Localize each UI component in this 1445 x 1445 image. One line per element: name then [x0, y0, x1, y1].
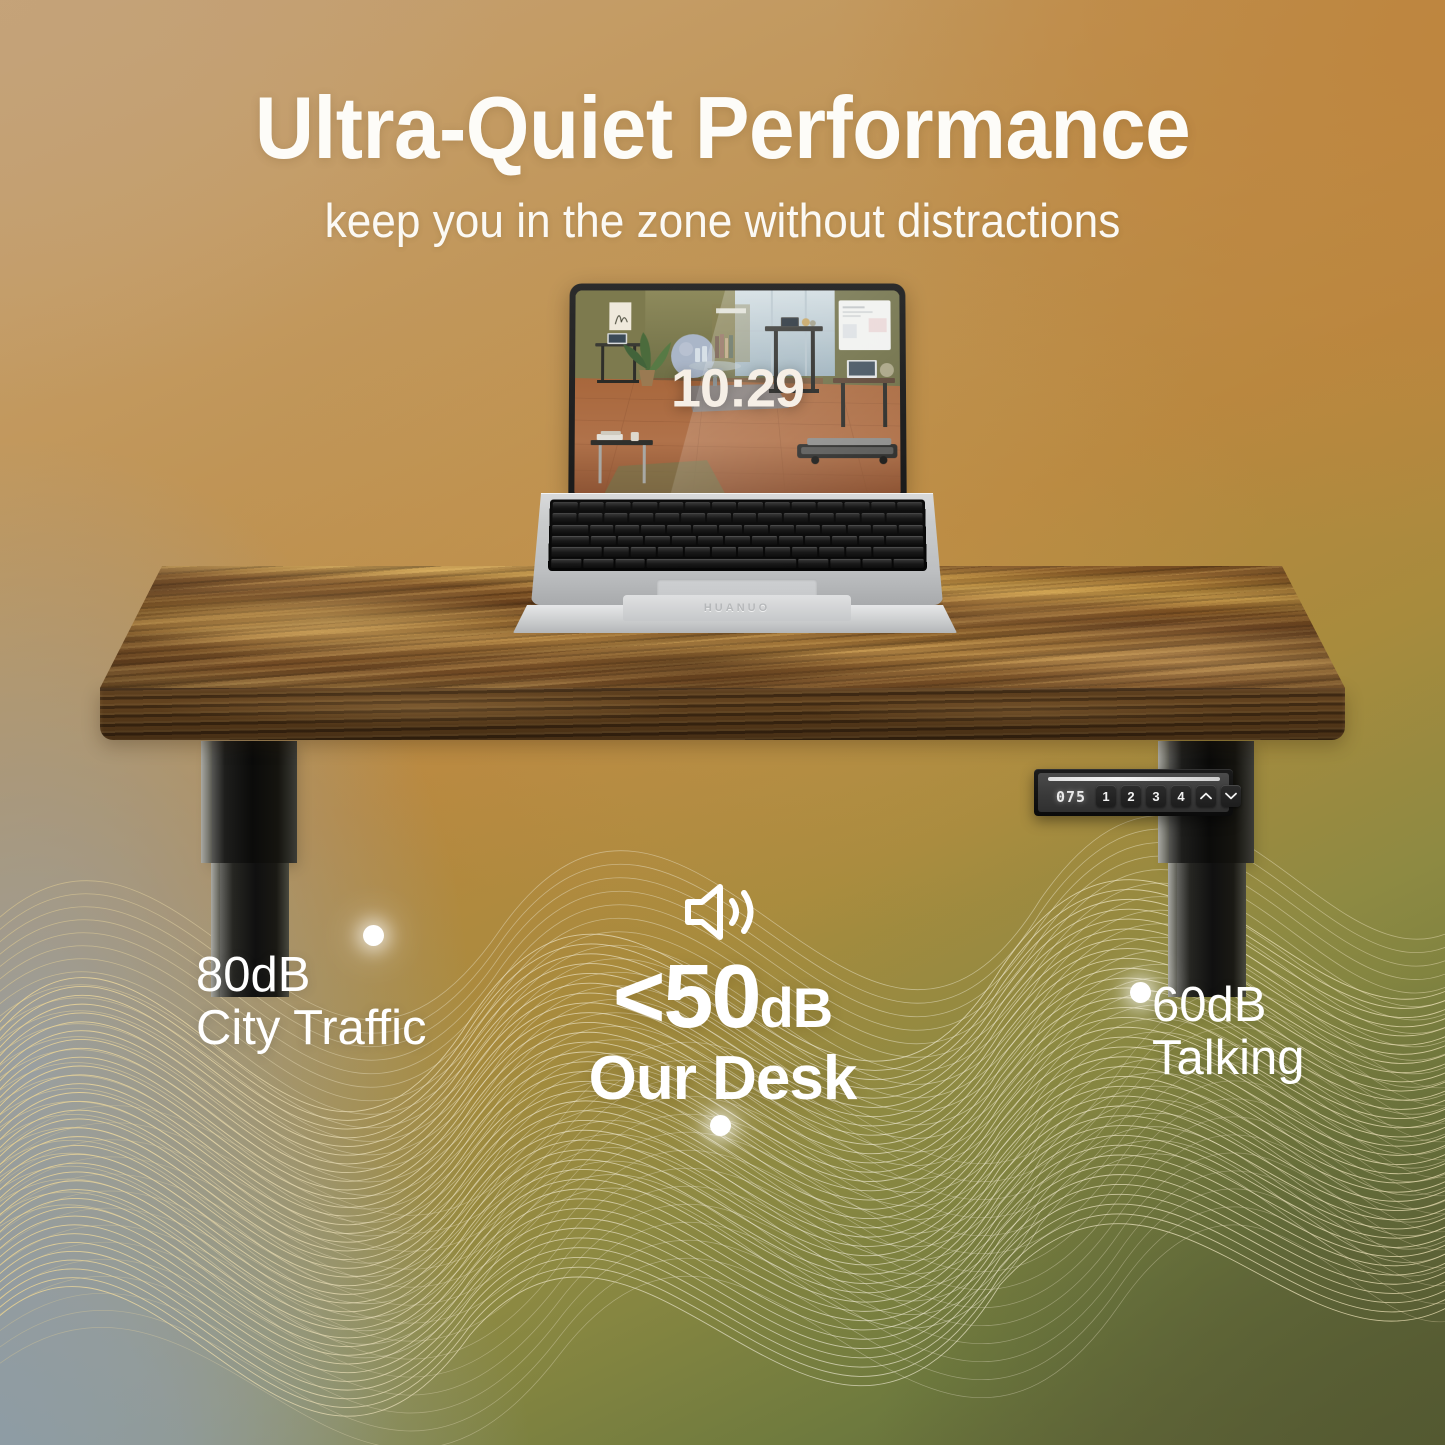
preset-button-3[interactable]: 3: [1146, 785, 1166, 807]
keyboard-row: [551, 547, 923, 556]
raise-button[interactable]: [1196, 785, 1216, 807]
screen-clock: 10:29: [575, 357, 900, 419]
laptop-lid: 10:29: [568, 284, 906, 499]
keyboard-row: [552, 525, 923, 534]
marker-dot-talking: [1130, 982, 1151, 1003]
callout-right-label: Talking: [1152, 1032, 1305, 1085]
lower-button[interactable]: [1221, 785, 1241, 807]
marketing-image-canvas: Ultra-Quiet Performance keep you in the …: [0, 0, 1445, 1445]
keyboard-row: [551, 559, 924, 568]
marker-dot-our-desk: [710, 1115, 731, 1136]
laptop-keyboard: [548, 499, 927, 571]
desk-front-edge: [100, 688, 1345, 740]
callout-center-value-prefix: <50: [613, 952, 760, 1042]
page-title: Ultra-Quiet Performance: [51, 84, 1395, 172]
laptop-on-stand: 10:29: [505, 283, 965, 653]
keyboard-row: [552, 514, 922, 523]
preset-button-4[interactable]: 4: [1171, 785, 1191, 807]
riser-front-lip: HUANUO: [623, 595, 851, 621]
keyboard-row: [552, 536, 924, 545]
chevron-up-icon: [1200, 792, 1212, 800]
laptop-screen: 10:29: [574, 290, 900, 493]
callout-right-value: 60dB: [1152, 980, 1305, 1032]
callout-center-value-unit: dB: [760, 980, 833, 1036]
header-text-block: Ultra-Quiet Performance keep you in the …: [0, 84, 1445, 245]
marker-dot-city-traffic: [363, 925, 384, 946]
callout-talking: 60dB Talking: [1152, 980, 1305, 1085]
preset-button-1[interactable]: 1: [1096, 785, 1116, 807]
control-panel-buttons: 1 2 3 4: [1096, 785, 1241, 807]
chevron-down-icon: [1225, 792, 1237, 800]
preset-button-2[interactable]: 2: [1121, 785, 1141, 807]
keyboard-row: [553, 502, 923, 511]
height-display: 075: [1050, 787, 1092, 806]
desk-control-panel[interactable]: 075 1 2 3 4: [1034, 769, 1233, 816]
brand-logo: HUANUO: [704, 602, 770, 614]
page-subtitle: keep you in the zone without distraction…: [43, 196, 1401, 245]
control-panel-face: 075 1 2 3 4: [1038, 773, 1229, 812]
control-panel-light-strip: [1048, 777, 1220, 781]
speaker-volume-icon: [680, 880, 766, 944]
